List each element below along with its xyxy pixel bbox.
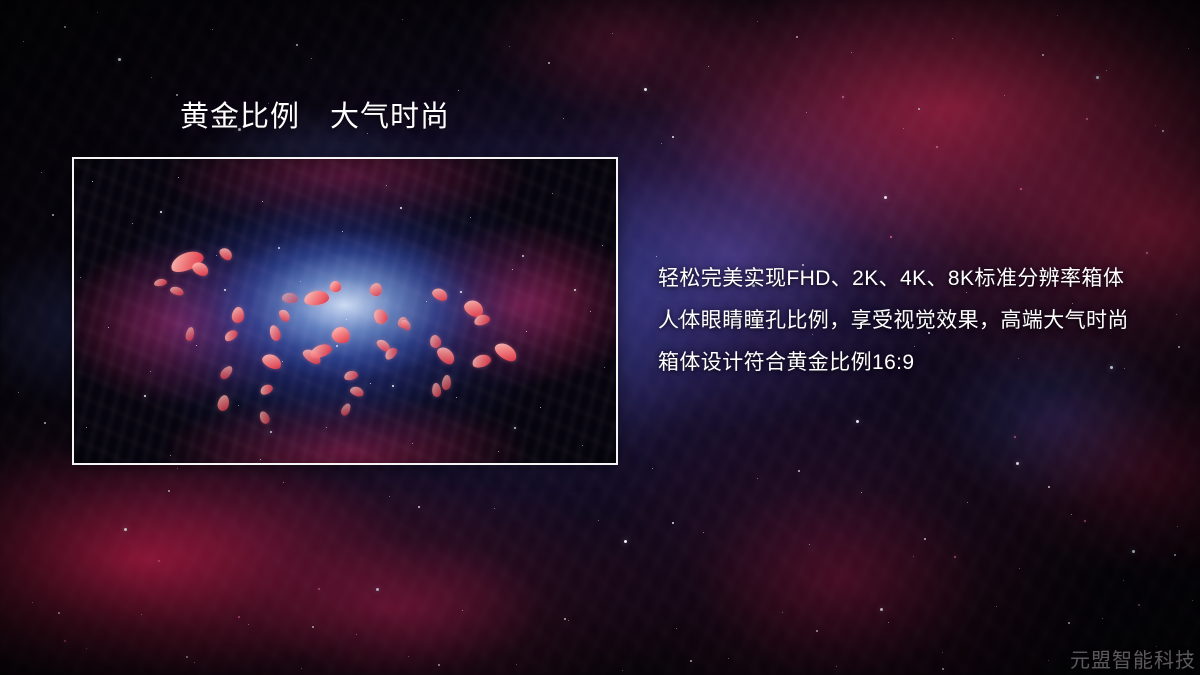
starfield-pink-stars: [0, 0, 2, 2]
flower-petal: [301, 346, 324, 366]
flower-petal: [492, 339, 520, 364]
flower-petal: [431, 383, 441, 398]
flower-petal: [303, 289, 330, 306]
preview-nebula-backdrop: [74, 159, 616, 463]
flower-petal: [217, 246, 234, 263]
flower-petal: [339, 402, 352, 417]
preview-image-frame: [72, 157, 618, 465]
flower-petal: [430, 286, 449, 303]
flower-petal: [190, 260, 211, 279]
preview-starfield-bright: [74, 159, 76, 161]
preview-nebula-wisps: [74, 159, 616, 463]
flower-petal: [473, 313, 491, 327]
flower-petal: [268, 324, 282, 342]
presentation-slide: 黄金比例 大气时尚 轻松完美实现FHD、2K、4K、8K标准分辨率箱体 人体眼睛…: [0, 0, 1200, 675]
flower-petal: [375, 337, 392, 353]
flower-petal: [216, 394, 231, 412]
flower-petal: [258, 410, 272, 426]
body-copy-block: 轻松完美实现FHD、2K、4K、8K标准分辨率箱体 人体眼睛瞳孔比例，享受视觉效…: [658, 258, 1178, 384]
flower-petal: [371, 307, 390, 326]
flower-petal: [309, 342, 334, 361]
flower-petal: [441, 375, 452, 391]
flower-petal: [168, 247, 206, 275]
starfield-small-stars: [0, 0, 1, 1]
flower-petal: [368, 281, 384, 298]
flower-petal: [260, 351, 284, 371]
flower-petal: [259, 382, 275, 396]
flower-petal: [434, 344, 457, 367]
flower-petal: [429, 334, 442, 349]
flower-petal: [349, 385, 365, 398]
body-copy-line: 人体眼睛瞳孔比例，享受视觉效果，高端大气时尚: [658, 300, 1178, 342]
flower-petal: [223, 328, 240, 343]
starfield-bright-stars: [0, 0, 3, 3]
slide-title: 黄金比例 大气时尚: [180, 100, 450, 134]
flower-petal: [471, 352, 493, 369]
body-copy-line: 箱体设计符合黄金比例16:9: [658, 342, 1178, 384]
flower-petal: [399, 318, 413, 332]
flower-petal: [397, 316, 409, 329]
company-watermark: 元盟智能科技: [1070, 644, 1196, 673]
flower-petal: [169, 285, 185, 297]
petal-container: [74, 159, 616, 463]
flower-petal: [462, 297, 487, 320]
flower-petal: [330, 325, 352, 345]
flower-petal: [231, 306, 245, 324]
flower-petal: [330, 281, 341, 292]
flower-petal: [343, 369, 359, 381]
flower-petal: [282, 292, 299, 304]
body-copy-line: 轻松完美实现FHD、2K、4K、8K标准分辨率箱体: [658, 258, 1178, 300]
starfield-medium-stars: [0, 0, 2, 2]
flower-petal: [383, 345, 399, 361]
flower-petal: [153, 278, 167, 287]
flower-petal: [185, 326, 196, 341]
flower-petal: [218, 364, 235, 381]
flower-petal: [277, 308, 292, 324]
